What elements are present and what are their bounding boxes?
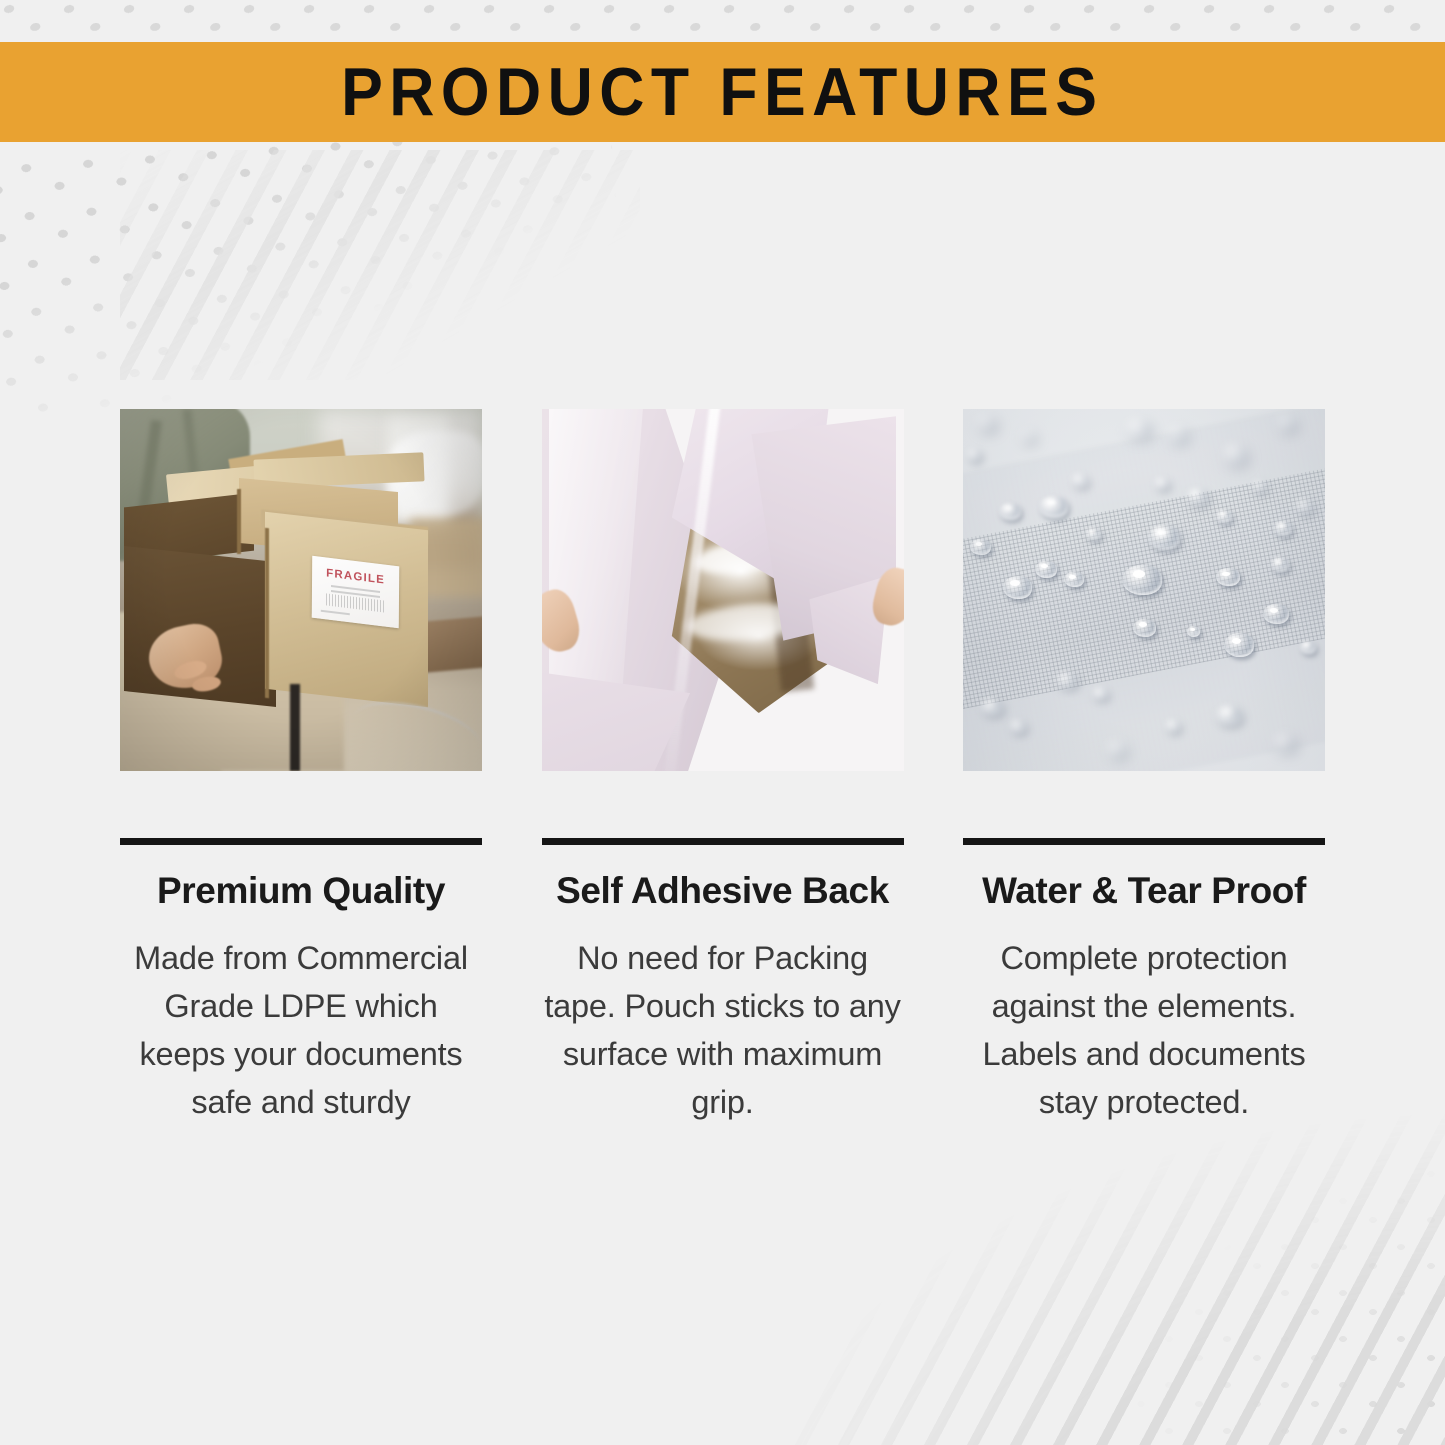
product-features-infographic: PRODUCT FEATURES: [0, 0, 1445, 1445]
water-beading-photo: [963, 409, 1325, 771]
top-dot-band-decoration: [0, 0, 1445, 44]
feature-divider-rule: [542, 838, 904, 845]
feature-title: Water & Tear Proof: [963, 871, 1325, 912]
feature-column-self-adhesive-back: Self Adhesive Back No need for Packing t…: [542, 409, 904, 1126]
bottom-right-dot-field-decoration: [925, 1145, 1445, 1445]
feature-divider-rule: [120, 838, 482, 845]
upper-left-dash-streak-decoration: [120, 150, 640, 380]
photo-vignette: [963, 409, 1325, 771]
feature-title: Premium Quality: [120, 871, 482, 912]
feature-divider-rule: [963, 838, 1325, 845]
bottom-right-dash-field-decoration: [685, 1085, 1445, 1445]
feature-title: Self Adhesive Back: [542, 871, 904, 912]
feature-column-premium-quality: FRAGILE Premium Quality Made from Commer…: [120, 409, 482, 1126]
feature-description: No need for Packing tape. Pouch sticks t…: [542, 934, 904, 1126]
shipping-boxes-photo: FRAGILE: [120, 409, 482, 771]
feature-column-water-tear-proof: Water & Tear Proof Complete protection a…: [963, 409, 1325, 1126]
header-banner: PRODUCT FEATURES: [0, 42, 1445, 142]
page-title: PRODUCT FEATURES: [341, 58, 1103, 126]
feature-grid: FRAGILE Premium Quality Made from Commer…: [120, 409, 1325, 1126]
photo-vignette: [120, 409, 482, 771]
upper-left-dot-fan-decoration: [0, 117, 628, 422]
adhesive-peel-photo: [542, 409, 904, 771]
feature-description: Complete protection against the elements…: [963, 934, 1325, 1126]
feature-description: Made from Commercial Grade LDPE which ke…: [120, 934, 482, 1126]
